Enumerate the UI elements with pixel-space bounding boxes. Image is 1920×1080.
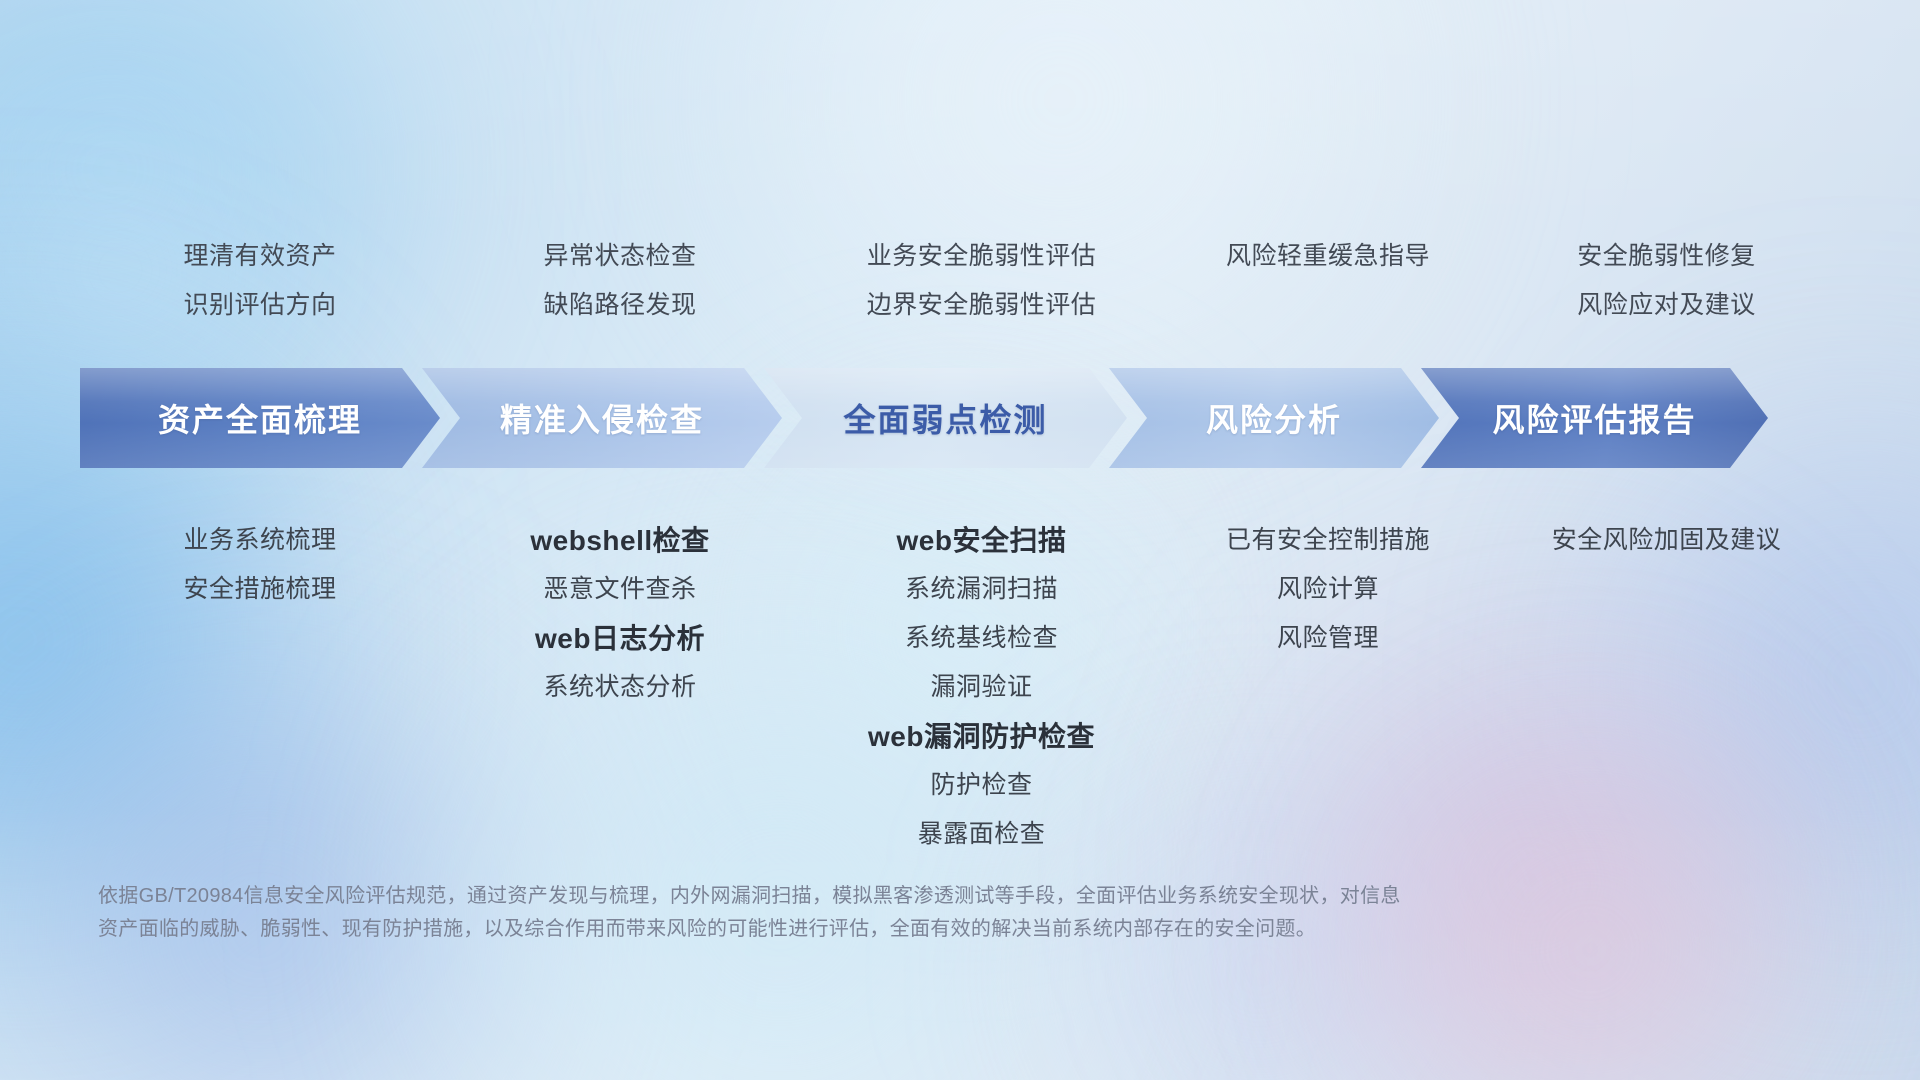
- activity-text: webshell检查: [440, 516, 800, 565]
- chevron-label: 全面弱点检测: [843, 395, 1047, 441]
- chevron-stage-weakness-detection[interactable]: 全面弱点检测: [764, 368, 1127, 468]
- chevron-label: 精准入侵检查: [500, 395, 704, 441]
- process-chevron-band: 资产全面梳理 精准入侵检查 全面弱点检测 风险分析 风险评估报告: [80, 368, 1845, 468]
- outcome-text: 识别评估方向: [80, 281, 440, 330]
- outcome-text: 异常状态检查: [440, 232, 800, 281]
- outcome-text: 风险应对及建议: [1493, 281, 1840, 330]
- outcome-text: 业务安全脆弱性评估: [800, 232, 1163, 281]
- activity-text: 暴露面检查: [800, 810, 1163, 859]
- chevron-stage-asset-inventory[interactable]: 资产全面梳理: [80, 368, 440, 468]
- activity-text: 系统基线检查: [800, 614, 1163, 663]
- outcome-text: 缺陷路径发现: [440, 281, 800, 330]
- activity-text: 防护检查: [800, 761, 1163, 810]
- footer-line: 资产面临的威胁、脆弱性、现有防护措施，以及综合作用而带来风险的可能性进行评估，全…: [98, 913, 1718, 946]
- activity-text: 已有安全控制措施: [1163, 516, 1493, 565]
- stage-activities-weakness-detection: web安全扫描 系统漏洞扫描 系统基线检查 漏洞验证 web漏洞防护检查 防护检…: [800, 516, 1163, 859]
- stage-activities-row: 业务系统梳理 安全措施梳理 webshell检查 恶意文件查杀 web日志分析 …: [80, 516, 1840, 859]
- activity-text: 业务系统梳理: [80, 516, 440, 565]
- stage-activities-risk-analysis: 已有安全控制措施 风险计算 风险管理: [1163, 516, 1493, 663]
- footer-description: 依据GB/T20984信息安全风险评估规范，通过资产发现与梳理，内外网漏洞扫描，…: [98, 880, 1718, 946]
- process-diagram: 理清有效资产 识别评估方向 异常状态检查 缺陷路径发现 业务安全脆弱性评估 边界…: [0, 0, 1920, 1080]
- outcome-text: 风险轻重缓急指导: [1163, 232, 1493, 281]
- stage-outcomes-weakness-detection: 业务安全脆弱性评估 边界安全脆弱性评估: [800, 232, 1163, 330]
- stage-activities-assessment-report: 安全风险加固及建议: [1493, 516, 1840, 565]
- stage-outcomes-assessment-report: 安全脆弱性修复 风险应对及建议: [1493, 232, 1840, 330]
- activity-text: 风险管理: [1163, 614, 1493, 663]
- activity-text: 系统状态分析: [440, 663, 800, 712]
- activity-text: 漏洞验证: [800, 663, 1163, 712]
- chevron-label: 风险评估报告: [1492, 395, 1696, 441]
- chevron-stage-risk-analysis[interactable]: 风险分析: [1109, 368, 1439, 468]
- activity-text: web安全扫描: [800, 516, 1163, 565]
- footer-line: 依据GB/T20984信息安全风险评估规范，通过资产发现与梳理，内外网漏洞扫描，…: [98, 880, 1718, 913]
- outcome-text: 边界安全脆弱性评估: [800, 281, 1163, 330]
- stage-outcomes-row: 理清有效资产 识别评估方向 异常状态检查 缺陷路径发现 业务安全脆弱性评估 边界…: [80, 232, 1840, 330]
- activity-text: web日志分析: [440, 614, 800, 663]
- stage-outcomes-risk-analysis: 风险轻重缓急指导: [1163, 232, 1493, 330]
- outcome-text: 理清有效资产: [80, 232, 440, 281]
- stage-activities-asset-inventory: 业务系统梳理 安全措施梳理: [80, 516, 440, 614]
- stage-outcomes-intrusion-check: 异常状态检查 缺陷路径发现: [440, 232, 800, 330]
- activity-text: 恶意文件查杀: [440, 565, 800, 614]
- chevron-stage-assessment-report[interactable]: 风险评估报告: [1421, 368, 1768, 468]
- activity-text: web漏洞防护检查: [800, 712, 1163, 761]
- chevron-label: 风险分析: [1206, 395, 1342, 441]
- stage-activities-intrusion-check: webshell检查 恶意文件查杀 web日志分析 系统状态分析: [440, 516, 800, 712]
- chevron-stage-intrusion-check[interactable]: 精准入侵检查: [422, 368, 782, 468]
- activity-text: 系统漏洞扫描: [800, 565, 1163, 614]
- activity-text: 风险计算: [1163, 565, 1493, 614]
- chevron-label: 资产全面梳理: [158, 395, 362, 441]
- activity-text: 安全措施梳理: [80, 565, 440, 614]
- outcome-text: 安全脆弱性修复: [1493, 232, 1840, 281]
- stage-outcomes-asset-inventory: 理清有效资产 识别评估方向: [80, 232, 440, 330]
- activity-text: 安全风险加固及建议: [1493, 516, 1840, 565]
